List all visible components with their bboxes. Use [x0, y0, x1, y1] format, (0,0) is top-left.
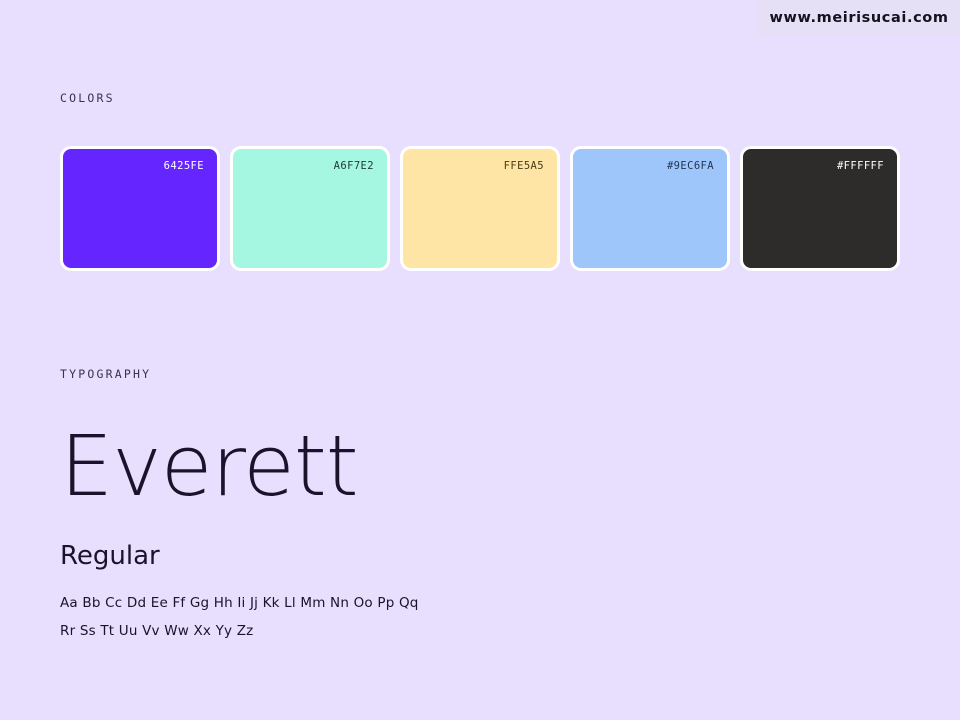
colors-section-label: COLORS: [60, 91, 115, 105]
color-swatch-label: 6425FE: [164, 160, 204, 172]
color-swatch-near-black[interactable]: #FFFFFF: [740, 146, 900, 271]
color-swatch-label: #9EC6FA: [667, 160, 714, 172]
color-swatch-label: FFE5A5: [504, 160, 544, 172]
color-swatch-row: 6425FE A6F7E2 FFE5A5 #9EC6FA #FFFFFF: [60, 146, 900, 271]
color-swatch-mint-green[interactable]: A6F7E2: [230, 146, 390, 271]
color-swatch-label: A6F7E2: [334, 160, 374, 172]
color-swatch-sky-blue[interactable]: #9EC6FA: [570, 146, 730, 271]
color-swatch-soft-yellow[interactable]: FFE5A5: [400, 146, 560, 271]
typeface-weight-label: Regular: [60, 541, 160, 571]
alphabet-specimen-line-1: Aa Bb Cc Dd Ee Ff Gg Hh Ii Jj Kk Ll Mm N…: [60, 595, 419, 611]
color-swatch-primary-violet[interactable]: 6425FE: [60, 146, 220, 271]
watermark-url-text: www.meirisucai.com: [769, 10, 948, 26]
watermark-band: www.meirisucai.com: [758, 0, 960, 36]
typography-section-label: TYPOGRAPHY: [60, 367, 151, 381]
alphabet-specimen-line-2: Rr Ss Tt Uu Vv Ww Xx Yy Zz: [60, 623, 253, 639]
color-swatch-label: #FFFFFF: [837, 160, 884, 172]
typeface-name-display: Everett: [60, 424, 358, 508]
